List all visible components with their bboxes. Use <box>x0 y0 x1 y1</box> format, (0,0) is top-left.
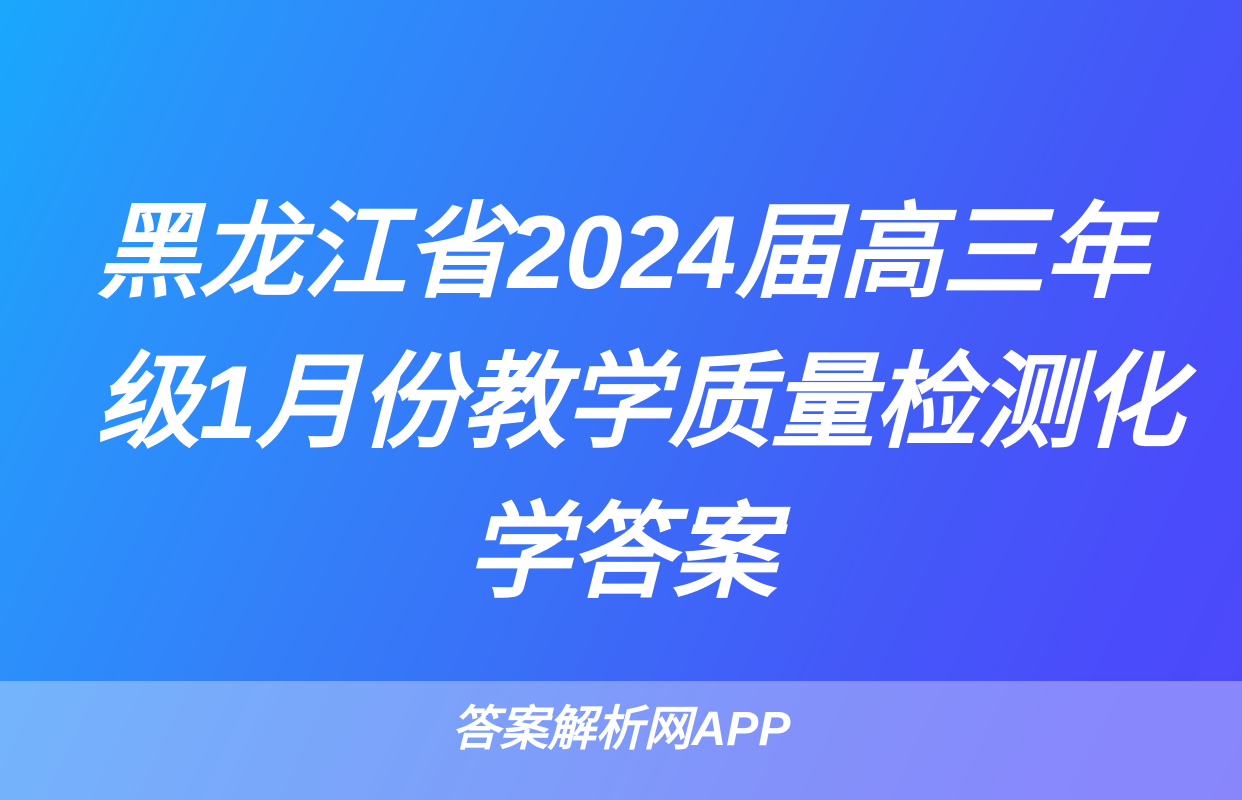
poster-canvas: 黑龙江省2024届高三年 级1月份教学质量检测化 学答案 答案解析网APP <box>0 0 1242 800</box>
watermark-brand-label: 答案解析网APP <box>452 702 791 758</box>
title-line-2: 级1月份教学质量检测化 <box>96 328 1146 478</box>
title-line-1: 黑龙江省2024届高三年 <box>96 178 1146 328</box>
watermark: 答案解析网APP <box>0 702 1242 758</box>
page-title: 黑龙江省2024届高三年 级1月份教学质量检测化 学答案 <box>0 178 1242 628</box>
title-line-3: 学答案 <box>96 478 1146 628</box>
